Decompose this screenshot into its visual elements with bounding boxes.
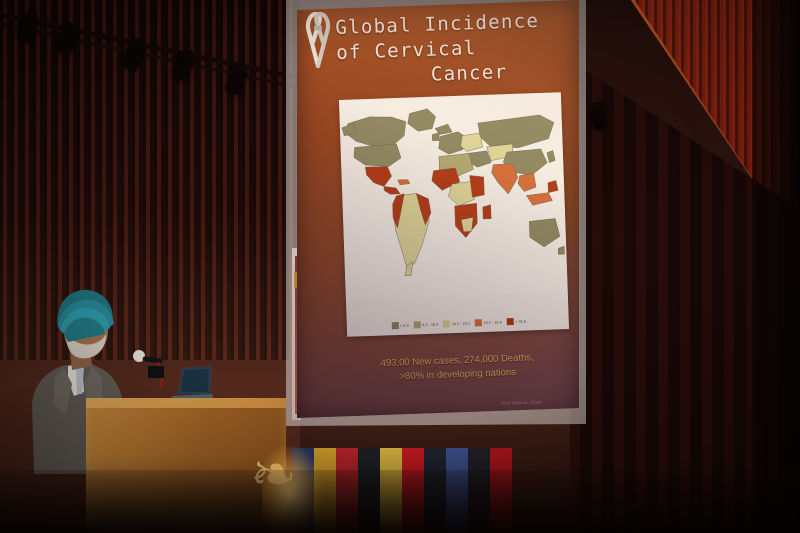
legend-swatch bbox=[391, 322, 398, 329]
photograph-scene: Global Incidence of Cervical Cancer bbox=[0, 0, 800, 533]
slide-title: Global Incidence of Cervical Cancer bbox=[335, 8, 577, 92]
stage-light-icon bbox=[54, 26, 77, 56]
legend-label: < 9.3 bbox=[400, 323, 409, 327]
podium-top-edge bbox=[86, 398, 286, 408]
slide-credit: Prof Rajinder Singh bbox=[502, 399, 542, 406]
legend-label: 16.2 - 23.2 bbox=[452, 321, 470, 326]
map-legend: < 9.3 9.3 - 16.2 16.2 - 23.2 23.2 - 32.6… bbox=[353, 316, 565, 330]
legend-item: 23.2 - 32.6 bbox=[475, 318, 502, 326]
legend-label: 23.2 - 32.6 bbox=[483, 320, 501, 325]
laptop[interactable] bbox=[168, 364, 216, 400]
laptop-display bbox=[181, 369, 209, 392]
stage-light-icon bbox=[121, 42, 145, 72]
legend-swatch bbox=[414, 321, 421, 328]
world-choropleth-map bbox=[339, 94, 568, 300]
legend-swatch bbox=[507, 318, 514, 325]
region-madagascar bbox=[483, 205, 491, 219]
legend-label: > 32.6 bbox=[515, 319, 526, 323]
lighting-truss bbox=[0, 2, 300, 98]
slide-caption: 493,00 New cases, 274,000 Deaths, >80% i… bbox=[357, 350, 558, 386]
legend-item: 16.2 - 23.2 bbox=[443, 320, 470, 328]
stage-light-icon bbox=[224, 66, 247, 96]
stage-right-edge-dark bbox=[752, 0, 800, 533]
microphone bbox=[128, 348, 172, 388]
legend-item: > 32.6 bbox=[507, 318, 526, 326]
legend-swatch bbox=[475, 319, 482, 326]
legend-item: < 9.3 bbox=[391, 322, 408, 330]
awareness-ribbon-icon bbox=[305, 12, 331, 68]
legend-item: 9.3 - 16.2 bbox=[414, 321, 439, 329]
presentation-slide: Global Incidence of Cervical Cancer bbox=[297, 0, 579, 418]
mic-stand-clamp bbox=[148, 366, 164, 378]
stage-light-icon bbox=[172, 52, 195, 81]
region-east-africa bbox=[470, 175, 485, 197]
legend-swatch bbox=[443, 320, 450, 327]
legend-label: 9.3 - 16.2 bbox=[422, 322, 438, 327]
mic-body bbox=[142, 356, 163, 364]
stage-floor bbox=[0, 470, 800, 533]
region-southern-africa-interior bbox=[461, 217, 473, 231]
slide-title-line1: Global Incidence of Cervical bbox=[335, 10, 539, 64]
truss-bar bbox=[0, 10, 304, 81]
world-map-panel: < 9.3 9.3 - 16.2 16.2 - 23.2 23.2 - 32.6… bbox=[339, 92, 569, 337]
